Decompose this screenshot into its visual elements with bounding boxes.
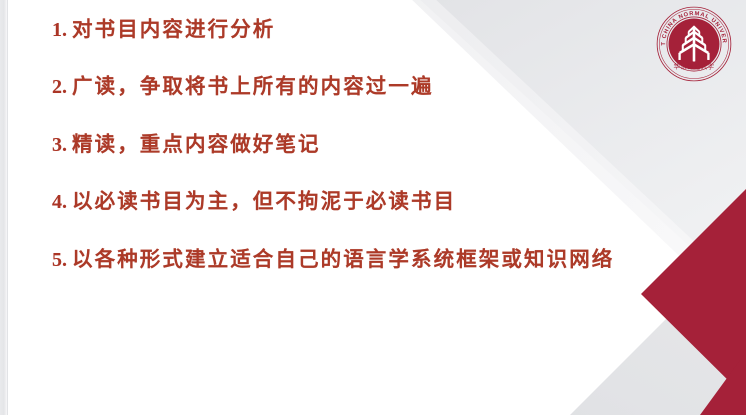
list-item-text: 精读，重点内容做好笔记 [72,133,321,157]
list-item: 1. 对书目内容进行分析 [52,18,692,75]
left-edge-divider [7,0,8,415]
list-item-number: 5. [52,249,67,272]
list-item-text: 广读，争取将书上所有的内容过一遍 [72,75,434,99]
list-item-text: 以各种形式建立适合自己的语言学系统框架或知识网络 [72,248,614,272]
list-item: 5. 以各种形式建立适合自己的语言学系统框架或知识网络 [52,248,692,305]
list-item-number: 3. [52,134,67,157]
list-item-number: 2. [52,76,67,99]
list-item: 4. 以必读书目为主，但不拘泥于必读书目 [52,190,692,247]
presentation-slide: EAST CHINA NORMAL UNIVERSITY [0,0,746,415]
left-edge-strip [0,0,7,415]
list-item-number: 4. [52,191,67,214]
list-item-text: 对书目内容进行分析 [72,18,275,42]
list-item-text: 以必读书目为主，但不拘泥于必读书目 [72,190,456,214]
list-item-number: 1. [52,19,67,42]
slide-content-list: 1. 对书目内容进行分析 2. 广读，争取将书上所有的内容过一遍 3. 精读，重… [52,18,692,305]
list-item: 3. 精读，重点内容做好笔记 [52,133,692,190]
list-item: 2. 广读，争取将书上所有的内容过一遍 [52,75,692,132]
